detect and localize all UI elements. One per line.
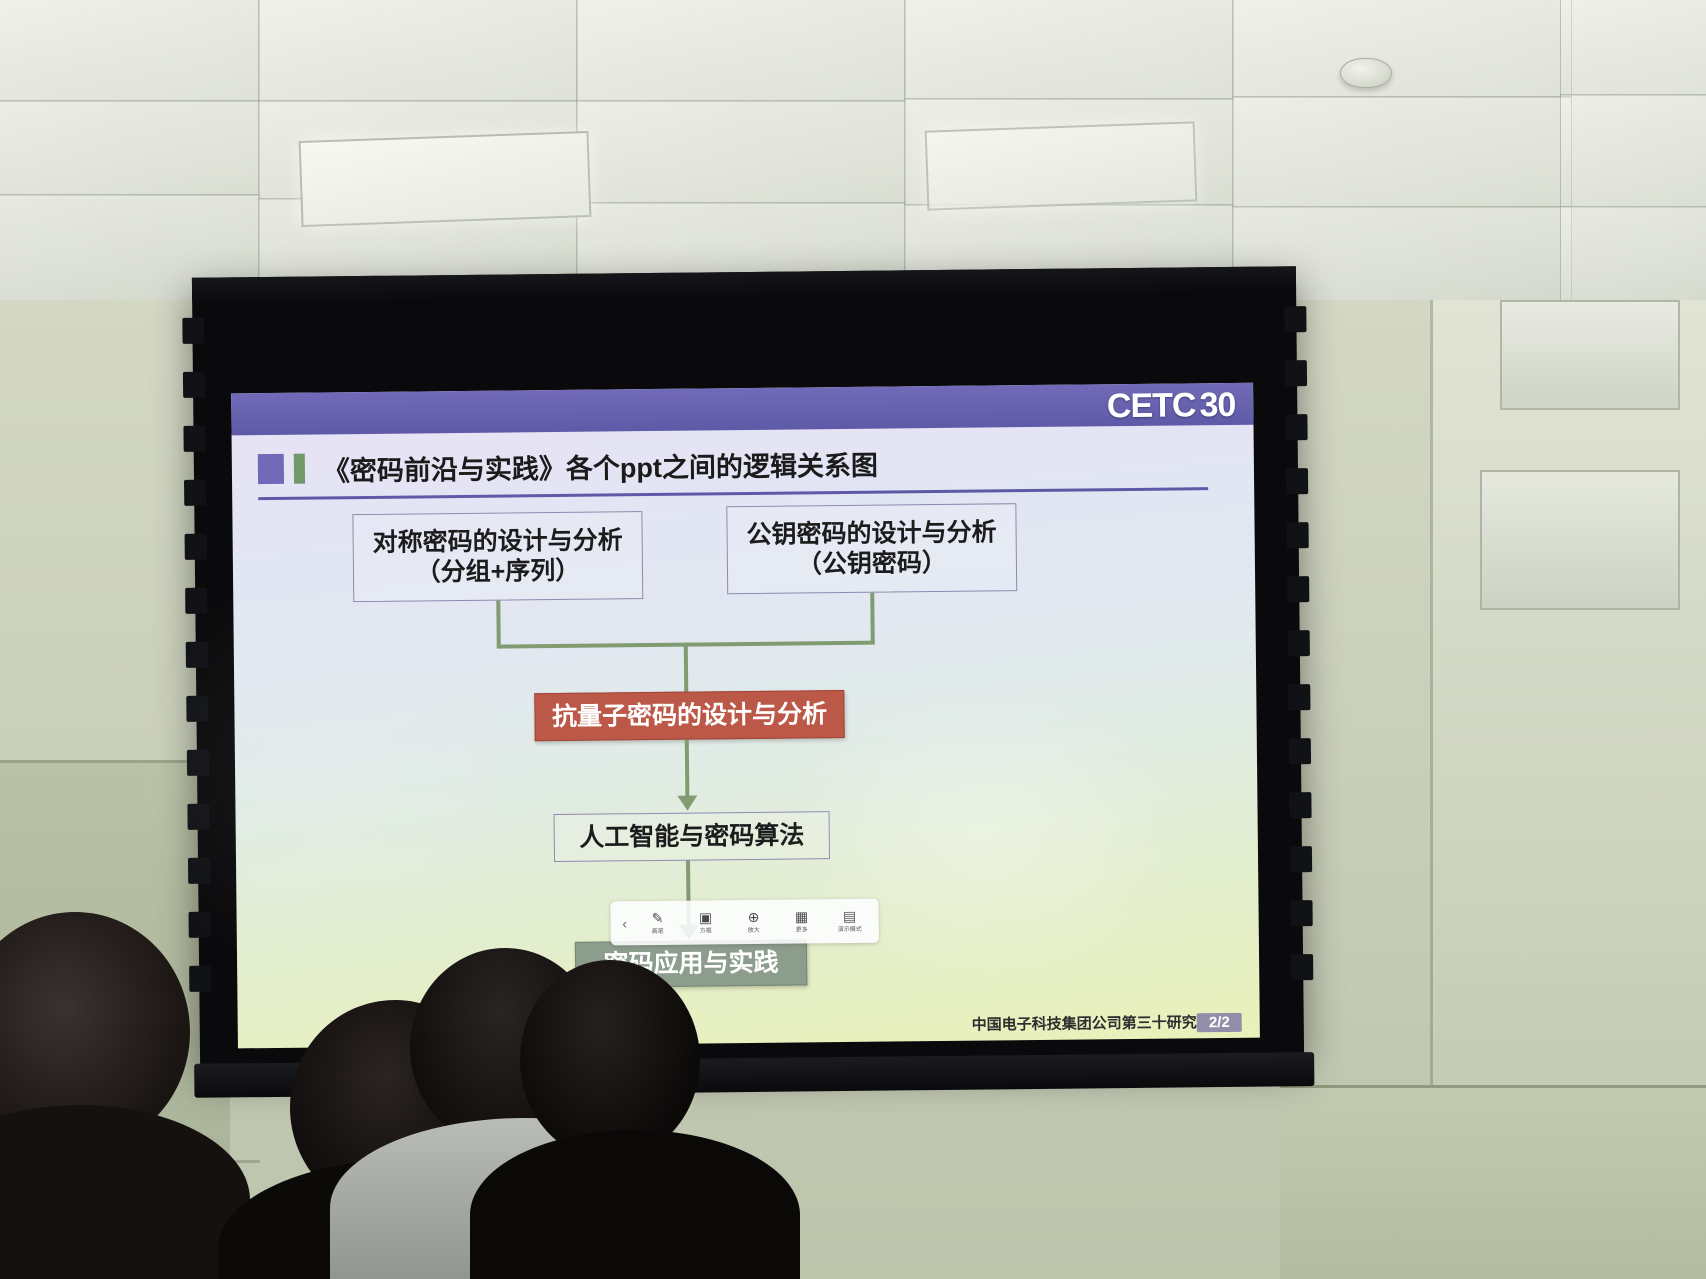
edge-symmetric-down — [496, 601, 500, 647]
edge-publickey-down — [870, 593, 875, 643]
slide-title-row: 《密码前沿与实践》各个ppt之间的逻辑关系图 — [258, 435, 1218, 493]
node-line-1: 公钥密码的设计与分析 — [746, 517, 996, 550]
ceiling-tile — [576, 0, 906, 102]
smoke-detector-icon — [1340, 58, 1392, 88]
node-line-1: 对称密码的设计与分析 — [373, 525, 623, 558]
ceiling-light-panel — [925, 121, 1198, 210]
toolbar-label: 方框 — [700, 927, 712, 935]
ceiling-vent — [1500, 300, 1680, 410]
toolbar-item-pen[interactable]: ✎ 画笔 — [635, 910, 681, 935]
diagram-node-postquantum[interactable]: 抗量子密码的设计与分析 — [534, 690, 844, 741]
grid-icon: ▦ — [795, 909, 808, 924]
ceiling-tile — [576, 100, 906, 204]
wall-seam — [1430, 250, 1433, 1110]
toolbar-item-zoom[interactable]: ⊕ 放大 — [731, 909, 777, 934]
arrowhead-icon — [677, 796, 697, 811]
ceiling-light-panel — [299, 131, 592, 227]
ceiling — [0, 0, 1706, 300]
toolbar-label: 更多 — [796, 926, 808, 934]
ceiling-tile — [1560, 206, 1706, 300]
wall-vent — [1480, 470, 1680, 610]
ceiling-tile — [1560, 0, 1706, 96]
diagram-node-symmetric[interactable]: 对称密码的设计与分析 （分组+序列） — [352, 511, 643, 602]
ceiling-tile — [258, 0, 578, 102]
edge-postquantum-to-ai — [685, 740, 690, 800]
toolbar-label: 放大 — [748, 926, 760, 934]
plus-circle-icon: ⊕ — [748, 909, 760, 924]
node-line-1: 人工智能与密码算法 — [579, 820, 804, 853]
cetc-logo-number: 30 — [1199, 386, 1235, 424]
edge-bus-to-postquantum — [684, 643, 689, 693]
ceiling-tile — [1560, 94, 1706, 208]
toolbar-label: 演示模式 — [838, 925, 862, 933]
footer-organization: 中国电子科技集团公司第三十研究所 — [972, 1011, 1212, 1035]
diagram-node-publickey[interactable]: 公钥密码的设计与分析 （公钥密码） — [726, 503, 1017, 594]
slide-title: 《密码前沿与实践》各个ppt之间的逻辑关系图 — [323, 443, 878, 488]
ppt-presentation-toolbar[interactable]: ‹ ✎ 画笔 ▣ 方框 ⊕ 放大 ▦ 更多 ▤ — [610, 899, 878, 946]
back-chevron-icon[interactable]: ‹ — [617, 915, 633, 931]
node-line-2: （分组+序列） — [416, 556, 581, 588]
cetc-logo-text: CETC — [1107, 386, 1196, 425]
cetc-logo: CETC30 — [1107, 385, 1236, 426]
node-line-1: 抗量子密码的设计与分析 — [552, 699, 827, 732]
diagram-node-ai-crypto[interactable]: 人工智能与密码算法 — [554, 811, 830, 862]
ceiling-tile — [1232, 96, 1572, 208]
title-marker-purple-icon — [258, 454, 284, 484]
title-marker-green-icon — [294, 454, 305, 484]
window-icon: ▤ — [843, 908, 856, 923]
room-scene: CETC30 《密码前沿与实践》各个ppt之间的逻辑关系图 对称密码的设计与分析… — [0, 0, 1706, 1279]
projector-screen: CETC30 《密码前沿与实践》各个ppt之间的逻辑关系图 对称密码的设计与分析… — [192, 266, 1304, 1068]
slide-header-band — [231, 383, 1253, 436]
powerpoint-slide: CETC30 《密码前沿与实践》各个ppt之间的逻辑关系图 对称密码的设计与分析… — [231, 383, 1260, 1049]
toolbar-item-frame[interactable]: ▣ 方框 — [683, 910, 729, 935]
node-line-2: （公钥密码） — [797, 548, 947, 580]
page-indicator: 2/2 — [1197, 1013, 1242, 1032]
toolbar-item-more[interactable]: ▦ 更多 — [779, 909, 825, 934]
wall-seam — [1280, 1085, 1706, 1088]
ceiling-tile — [1232, 0, 1572, 98]
pen-icon: ✎ — [652, 910, 664, 925]
toolbar-item-presentation-mode[interactable]: ▤ 演示模式 — [827, 908, 873, 933]
toolbar-label: 画笔 — [652, 927, 664, 935]
ceiling-tile — [904, 0, 1234, 100]
right-lower-wall-panel — [1280, 1085, 1706, 1279]
ceiling-tile — [0, 0, 260, 102]
briefcase-icon: ▣ — [699, 910, 712, 925]
ceiling-tile — [0, 100, 260, 196]
